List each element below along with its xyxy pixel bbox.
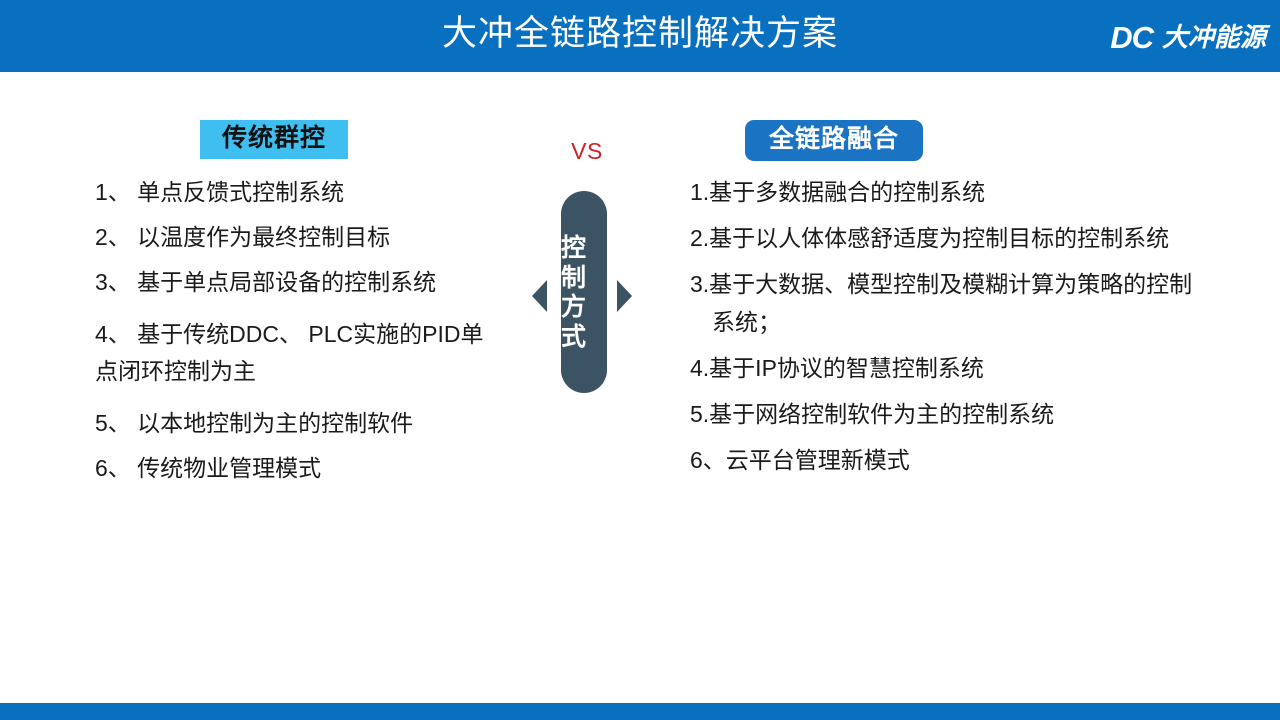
list-item-text: 5.基于网络控制软件为主的控制系统 (690, 401, 1054, 427)
list-item-text: 2.基于以人体体感舒适度为控制目标的控制系统 (690, 225, 1169, 251)
list-item-text: 3.基于大数据、模型控制及模糊计算为策略的控制 (690, 271, 1192, 297)
list-item-text: 6、云平台管理新模式 (690, 447, 910, 473)
list-item: 1、 单点反馈式控制系统 (95, 181, 545, 204)
left-feature-list: 1、 单点反馈式控制系统 2、 以温度作为最终控制目标 3、 基于单点局部设备的… (95, 181, 545, 481)
arrow-left-icon (532, 280, 547, 312)
list-item-text: 4.基于IP协议的智慧控制系统 (690, 355, 984, 381)
list-item: 1.基于多数据融合的控制系统 (690, 181, 1280, 204)
vs-label: VS (532, 138, 642, 165)
arrow-right-icon (617, 280, 632, 312)
list-item: 3、 基于单点局部设备的控制系统 (95, 271, 545, 294)
list-item: 5.基于网络控制软件为主的控制系统 (690, 403, 1280, 426)
list-item-continuation: 系统； (690, 311, 1280, 334)
brand-logo: DC 大冲能源 (1110, 16, 1266, 58)
list-item: 2、 以温度作为最终控制目标 (95, 226, 545, 249)
left-column-badge: 传统群控 (200, 120, 348, 159)
footer-bar (0, 703, 1280, 720)
left-comparison-column: 传统群控 1、 单点反馈式控制系统 2、 以温度作为最终控制目标 3、 基于单点… (95, 120, 545, 502)
list-item: 4、 基于传统DDC、 PLC实施的PID单 点闭环控制为主 (95, 316, 545, 391)
right-column-badge: 全链路融合 (745, 120, 923, 161)
list-item-text: 1.基于多数据融合的控制系统 (690, 179, 985, 205)
page-title: 大冲全链路控制解决方案 (0, 0, 1280, 72)
list-item: 6、 传统物业管理模式 (95, 457, 545, 480)
list-item: 6、云平台管理新模式 (690, 449, 1280, 472)
list-item: 3.基于大数据、模型控制及模糊计算为策略的控制 系统； (690, 273, 1280, 334)
list-item: 2.基于以人体体感舒适度为控制目标的控制系统 (690, 227, 1280, 250)
list-item: 4.基于IP协议的智慧控制系统 (690, 357, 1280, 380)
logo-mark-text: DC (1110, 22, 1153, 53)
list-item: 5、 以本地控制为主的控制软件 (95, 412, 545, 435)
center-axis-badge: 控制方式 (561, 191, 607, 393)
logo-company-name: 大冲能源 (1162, 24, 1266, 50)
right-feature-list: 1.基于多数据融合的控制系统 2.基于以人体体感舒适度为控制目标的控制系统 3.… (690, 181, 1280, 472)
right-comparison-column: 全链路融合 1.基于多数据融合的控制系统 2.基于以人体体感舒适度为控制目标的控… (690, 120, 1280, 495)
